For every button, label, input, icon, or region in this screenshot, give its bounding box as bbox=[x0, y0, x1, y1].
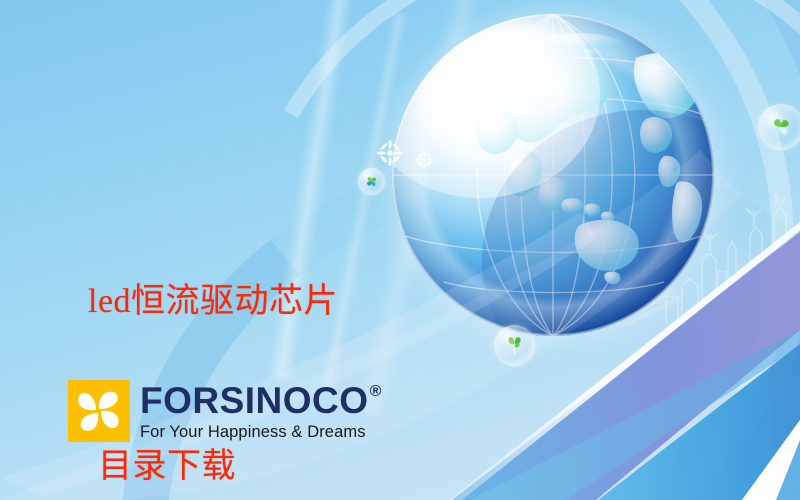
logo-wordmark-text: FORSINOCO bbox=[140, 382, 369, 419]
pinwheel-icon bbox=[768, 114, 794, 140]
leaf-sprout-icon bbox=[503, 334, 526, 357]
logo-wordmark: FORSINOCO ® bbox=[140, 382, 382, 419]
brand-logo: FORSINOCO ® For Your Happiness & Dreams bbox=[68, 380, 382, 442]
logo-tagline: For Your Happiness & Dreams bbox=[140, 424, 382, 441]
bubble-pinwheel-right bbox=[758, 104, 800, 150]
globe bbox=[392, 14, 714, 336]
logo-text-block: FORSINOCO ® For Your Happiness & Dreams bbox=[140, 382, 382, 441]
globe-sphere bbox=[392, 14, 714, 336]
promo-banner: led恒流驱动芯片 目录下载 FORSINOCO ® For Your Happ… bbox=[0, 0, 800, 500]
registered-trademark-symbol: ® bbox=[370, 384, 382, 400]
bubble-leaf-medium bbox=[494, 325, 535, 366]
headline-line-2: 目录下载 bbox=[88, 439, 418, 494]
headline-line-1: led恒流驱动芯片 bbox=[88, 274, 418, 329]
forsinoco-pinwheel-mark-icon bbox=[68, 380, 130, 442]
headline: led恒流驱动芯片 目录下载 bbox=[88, 164, 418, 500]
